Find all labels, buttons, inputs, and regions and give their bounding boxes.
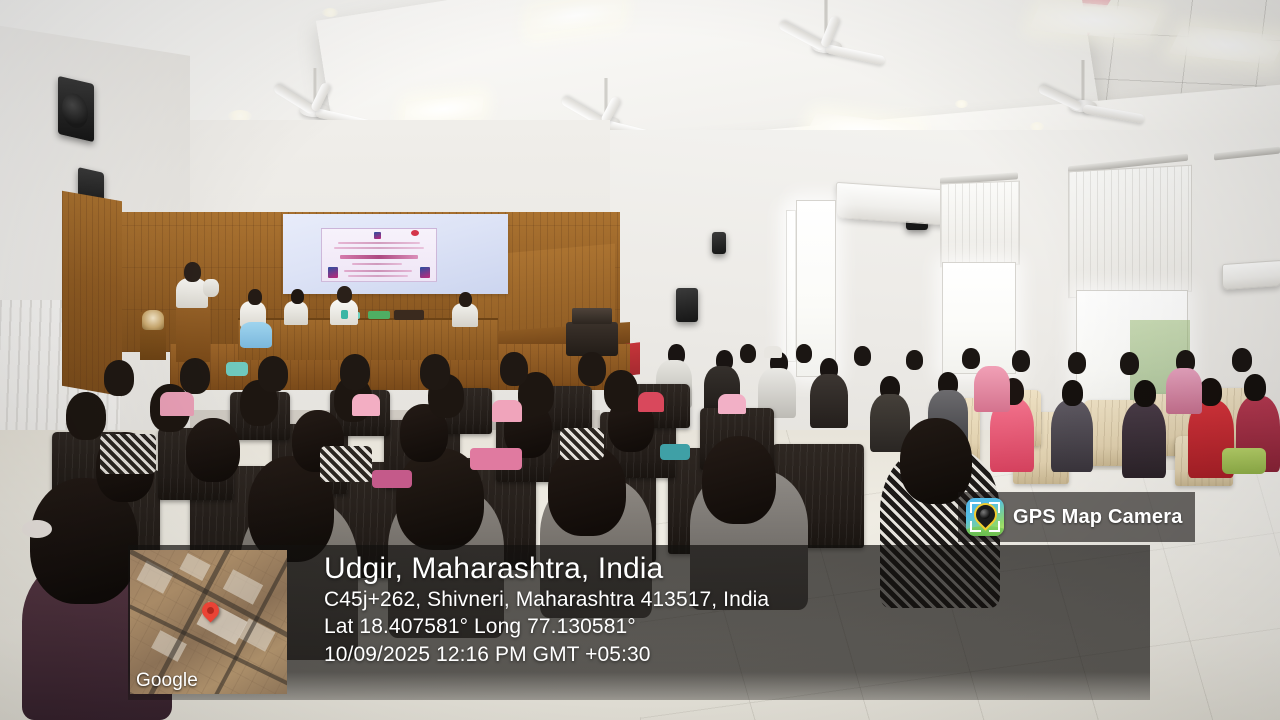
speaker-cone-icon [62, 91, 88, 131]
speaker-arm [203, 279, 219, 297]
audience-clothing [160, 392, 194, 416]
focus-bracket-icon [989, 521, 1000, 532]
air-conditioner-unit [1222, 260, 1280, 290]
audience-head [604, 370, 638, 412]
audience-clothing [660, 444, 690, 460]
audience-clothing [718, 394, 746, 414]
audience-clothing [372, 470, 412, 488]
wall-speaker [712, 232, 726, 254]
map-thumbnail: Google [130, 550, 287, 694]
banner-text-line [338, 242, 420, 244]
audience-head [180, 358, 210, 394]
dignitary-head [459, 292, 472, 307]
window-blind [940, 181, 1020, 268]
floral-decor [142, 310, 164, 330]
audience-head [740, 344, 756, 363]
banner-text-line [344, 270, 412, 272]
audience-clothing [100, 434, 156, 474]
gps-info-bar: Google Udgir, Maharashtra, India C45j+26… [128, 545, 1150, 700]
capture-timestamp: 10/09/2025 12:16 PM GMT +05:30 [324, 641, 769, 669]
audience-head [1199, 378, 1222, 406]
audience-member [1166, 368, 1202, 414]
audience-head [1134, 380, 1156, 407]
audience-head [420, 354, 450, 390]
av-equipment-top [572, 308, 612, 324]
bag-item [1222, 448, 1266, 474]
audience-member [974, 366, 1010, 412]
dais-item [368, 311, 390, 319]
dignitary-head [337, 286, 352, 303]
dignitary-lap [240, 322, 272, 348]
audience-head [906, 350, 923, 370]
location-address: C45j+262, Shivneri, Maharashtra 413517, … [324, 586, 769, 614]
gps-text-block: Udgir, Maharashtra, India C45j+262, Shiv… [287, 545, 769, 669]
audience-head [1062, 380, 1083, 406]
location-title: Udgir, Maharashtra, India [324, 552, 769, 586]
gps-app-label: GPS Map Camera [1013, 506, 1183, 529]
audience-head [962, 348, 980, 369]
hair-clip [22, 520, 52, 538]
banner-text-line [334, 247, 424, 249]
audience-head [1068, 352, 1086, 374]
ceiling-downlight [322, 8, 338, 17]
banner-accent-icon [411, 230, 419, 236]
focus-bracket-icon [989, 502, 1000, 513]
ceiling-downlight [955, 100, 968, 108]
wall-speaker [58, 76, 94, 142]
audience-member [1051, 400, 1093, 472]
ceiling-fan-rod [1081, 60, 1085, 104]
banner-emblem-icon [374, 232, 381, 239]
dais-item [394, 310, 424, 320]
window-blind [1068, 165, 1192, 298]
wall-speaker [676, 288, 698, 322]
photograph: GPS Map Camera Google Udgir, Maharashtra… [0, 0, 1280, 720]
audience-head [578, 352, 606, 386]
audience-clothing [352, 394, 380, 416]
audience-clothing [638, 392, 664, 412]
dignitary-head [248, 289, 262, 305]
banner-logo-right-icon [420, 267, 430, 278]
audience-cap [764, 346, 782, 358]
audience-head [66, 392, 106, 440]
focus-bracket-icon [970, 502, 981, 513]
audience-head [186, 418, 240, 482]
audience-clothing [560, 428, 604, 460]
audience-head [1120, 352, 1139, 375]
audience-member [810, 374, 848, 428]
audience-head [340, 354, 370, 390]
audience-head [1232, 348, 1252, 372]
audience-clothing [470, 448, 522, 470]
focus-bracket-icon [970, 521, 981, 532]
audience-head [702, 436, 776, 524]
audience-clothing [226, 362, 248, 376]
audience-head [1244, 374, 1266, 401]
google-watermark: Google [136, 670, 198, 692]
av-equipment [566, 322, 618, 356]
dignitary-torso [284, 301, 308, 325]
audience-head [796, 344, 812, 363]
gps-map-camera-logo-icon [966, 498, 1004, 536]
banner-text-line [352, 263, 402, 265]
audience-member [1122, 402, 1166, 478]
window [786, 210, 796, 362]
projected-banner [321, 228, 437, 282]
gps-map-camera-badge: GPS Map Camera [958, 492, 1195, 542]
audience-head [500, 352, 528, 386]
audience-head [854, 346, 871, 366]
speaker-head [184, 262, 201, 282]
audience-head [104, 360, 134, 396]
audience-head [1012, 350, 1030, 372]
dignitary-scarf [341, 310, 348, 319]
banner-logo-left-icon [328, 267, 338, 278]
banner-text-line [348, 275, 408, 277]
audience-clothing [320, 446, 372, 482]
banner-title-line [340, 255, 418, 259]
location-coordinates: Lat 18.407581° Long 77.130581° [324, 613, 769, 641]
dignitary-head [291, 289, 304, 304]
map-block [223, 569, 263, 604]
audience-clothing [492, 400, 522, 422]
audience-head [258, 356, 288, 392]
